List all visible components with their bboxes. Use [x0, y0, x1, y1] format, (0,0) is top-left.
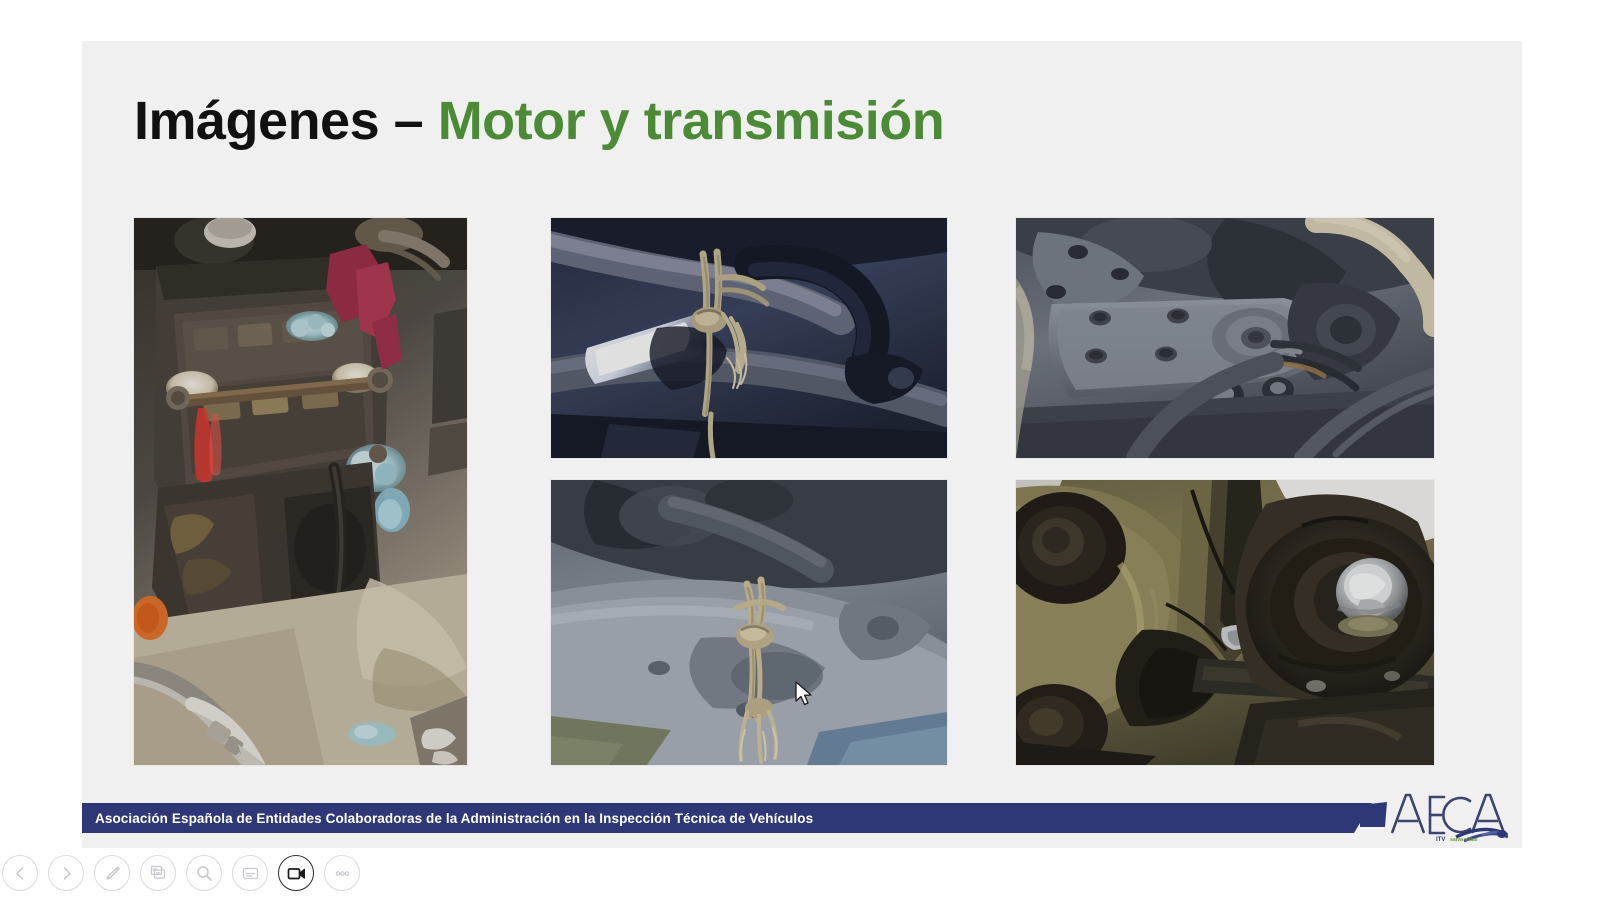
title-separator: –	[394, 91, 424, 151]
camera-button[interactable]	[278, 855, 314, 891]
captions-button[interactable]	[232, 855, 268, 891]
photo-rope-tied-underbody-bottom-image	[551, 480, 947, 765]
captions-icon	[241, 864, 260, 883]
next-slide-button[interactable]	[48, 855, 84, 891]
zoom-button[interactable]	[186, 855, 222, 891]
more-options-button[interactable]	[324, 855, 360, 891]
presentation-viewer: Imágenes – Motor y transmisión	[0, 0, 1600, 900]
footer-text: Asociación Española de Entidades Colabor…	[82, 811, 813, 826]
aeca-tagline-itv: ITV	[1436, 837, 1445, 843]
photo-rope-tied-underbody-top-image	[551, 218, 947, 458]
title-part-imagenes: Imágenes	[134, 91, 379, 151]
magnifier-icon	[195, 864, 214, 883]
photo-engine-mount-bracket	[1016, 218, 1434, 458]
slide-footer-bar: Asociación Española de Entidades Colabor…	[82, 803, 1372, 833]
photo-rope-tied-underbody-top	[551, 218, 947, 458]
chevron-right-icon	[58, 865, 75, 882]
photo-rope-tied-underbody-bottom	[551, 480, 947, 765]
presentation-toolbar[interactable]	[0, 846, 380, 900]
ellipsis-icon	[333, 864, 352, 883]
pen-icon	[103, 864, 122, 883]
aeca-tagline: salva vidas	[1450, 837, 1478, 843]
aeca-logo-mark: ITV salva vidas	[1360, 781, 1508, 843]
photo-engine-mount-bracket-image	[1016, 218, 1434, 458]
slide-canvas[interactable]: Imágenes – Motor y transmisión	[82, 41, 1522, 848]
photo-grid	[134, 218, 1474, 765]
annotate-button[interactable]	[94, 855, 130, 891]
slides-grid-icon	[149, 864, 168, 883]
title-part-motor-transmision: Motor y transmisión	[438, 91, 945, 151]
video-camera-icon	[286, 863, 307, 884]
previous-slide-button[interactable]	[2, 855, 38, 891]
photo-battery-corrosion-image	[134, 218, 467, 765]
aeca-logo: ITV salva vidas	[1360, 781, 1508, 843]
photo-engine-mount-bushing	[1016, 480, 1434, 765]
slide-overview-button[interactable]	[140, 855, 176, 891]
photo-battery-corrosion	[134, 218, 467, 765]
page-title: Imágenes – Motor y transmisión	[134, 93, 944, 150]
photo-engine-mount-bushing-image	[1016, 480, 1434, 765]
chevron-left-icon	[12, 865, 29, 882]
